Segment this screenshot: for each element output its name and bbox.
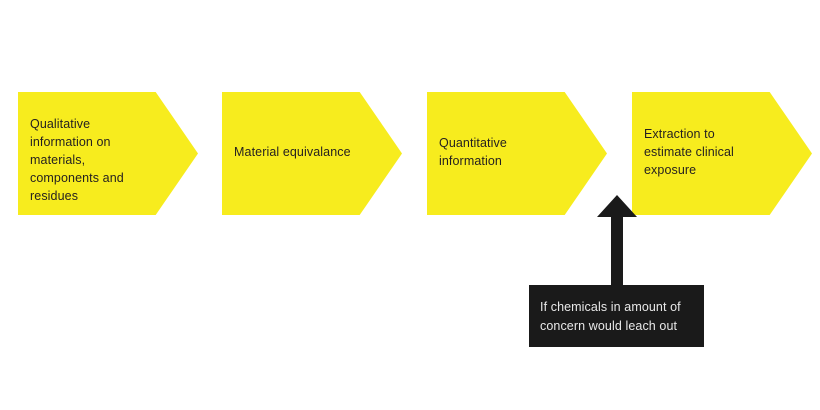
flow-step-4-label: Extraction to estimate clinical exposure: [644, 125, 764, 179]
flow-step-1[interactable]: Qualitative information on materials, co…: [18, 92, 198, 215]
callout-note-label: If chemicals in amount of concern would …: [540, 298, 696, 336]
flow-step-1-label: Qualitative information on materials, co…: [30, 115, 150, 205]
flow-step-2-label: Material equivalance: [234, 143, 354, 161]
callout-note[interactable]: If chemicals in amount of concern would …: [529, 285, 704, 347]
up-arrow-icon: [596, 195, 638, 287]
flow-step-3[interactable]: Quantitative information: [427, 92, 607, 215]
flow-step-4[interactable]: Extraction to estimate clinical exposure: [632, 92, 812, 215]
flow-diagram-canvas: Qualitative information on materials, co…: [0, 0, 820, 410]
flow-step-2[interactable]: Material equivalance: [222, 92, 402, 215]
flow-step-3-label: Quantitative information: [439, 134, 559, 170]
